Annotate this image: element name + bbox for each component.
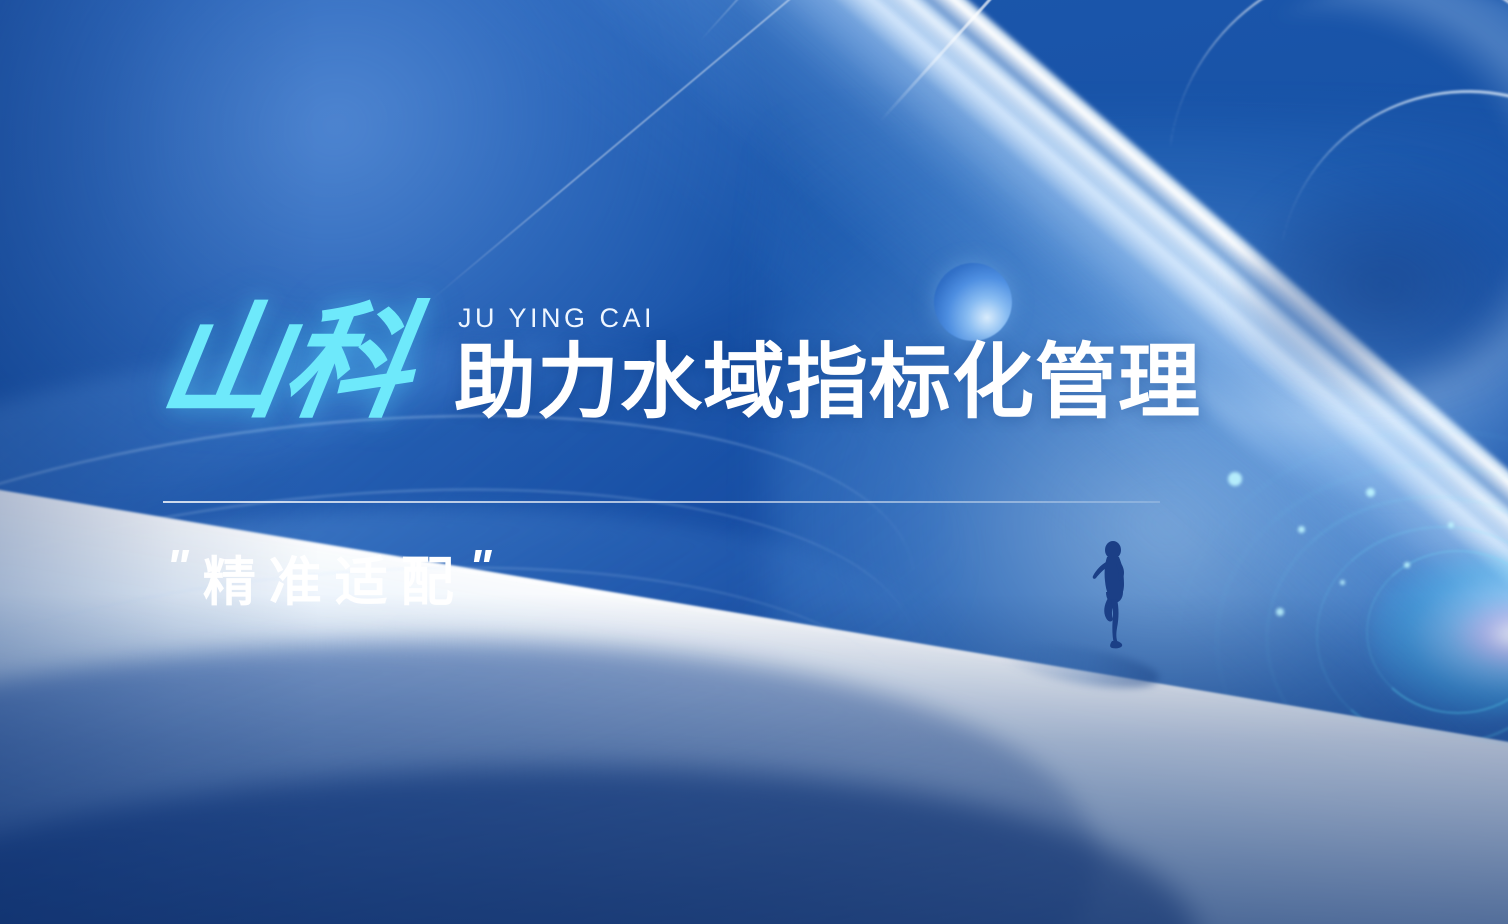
- divider-line: [163, 501, 1160, 503]
- banner-content: 山科 JU YING CAI 助力水域指标化管理 " 精准适配 ": [0, 0, 1508, 924]
- title-column: JU YING CAI 助力水域指标化管理: [454, 303, 1201, 424]
- brand-logo-text: 山科: [152, 300, 420, 426]
- promo-banner: 山科 JU YING CAI 助力水域指标化管理 " 精准适配 ": [0, 0, 1508, 924]
- brand-pinyin-text: JU YING CAI: [458, 303, 1201, 334]
- headline-row: 山科 JU YING CAI 助力水域指标化管理: [162, 300, 1201, 428]
- subtitle-text: 精准适配: [203, 540, 467, 616]
- subtitle-block: " 精准适配 ": [166, 540, 492, 616]
- quote-open-mark: ": [166, 544, 189, 592]
- quote-close-mark: ": [469, 544, 492, 592]
- headline-text: 助力水域指标化管理: [454, 342, 1201, 424]
